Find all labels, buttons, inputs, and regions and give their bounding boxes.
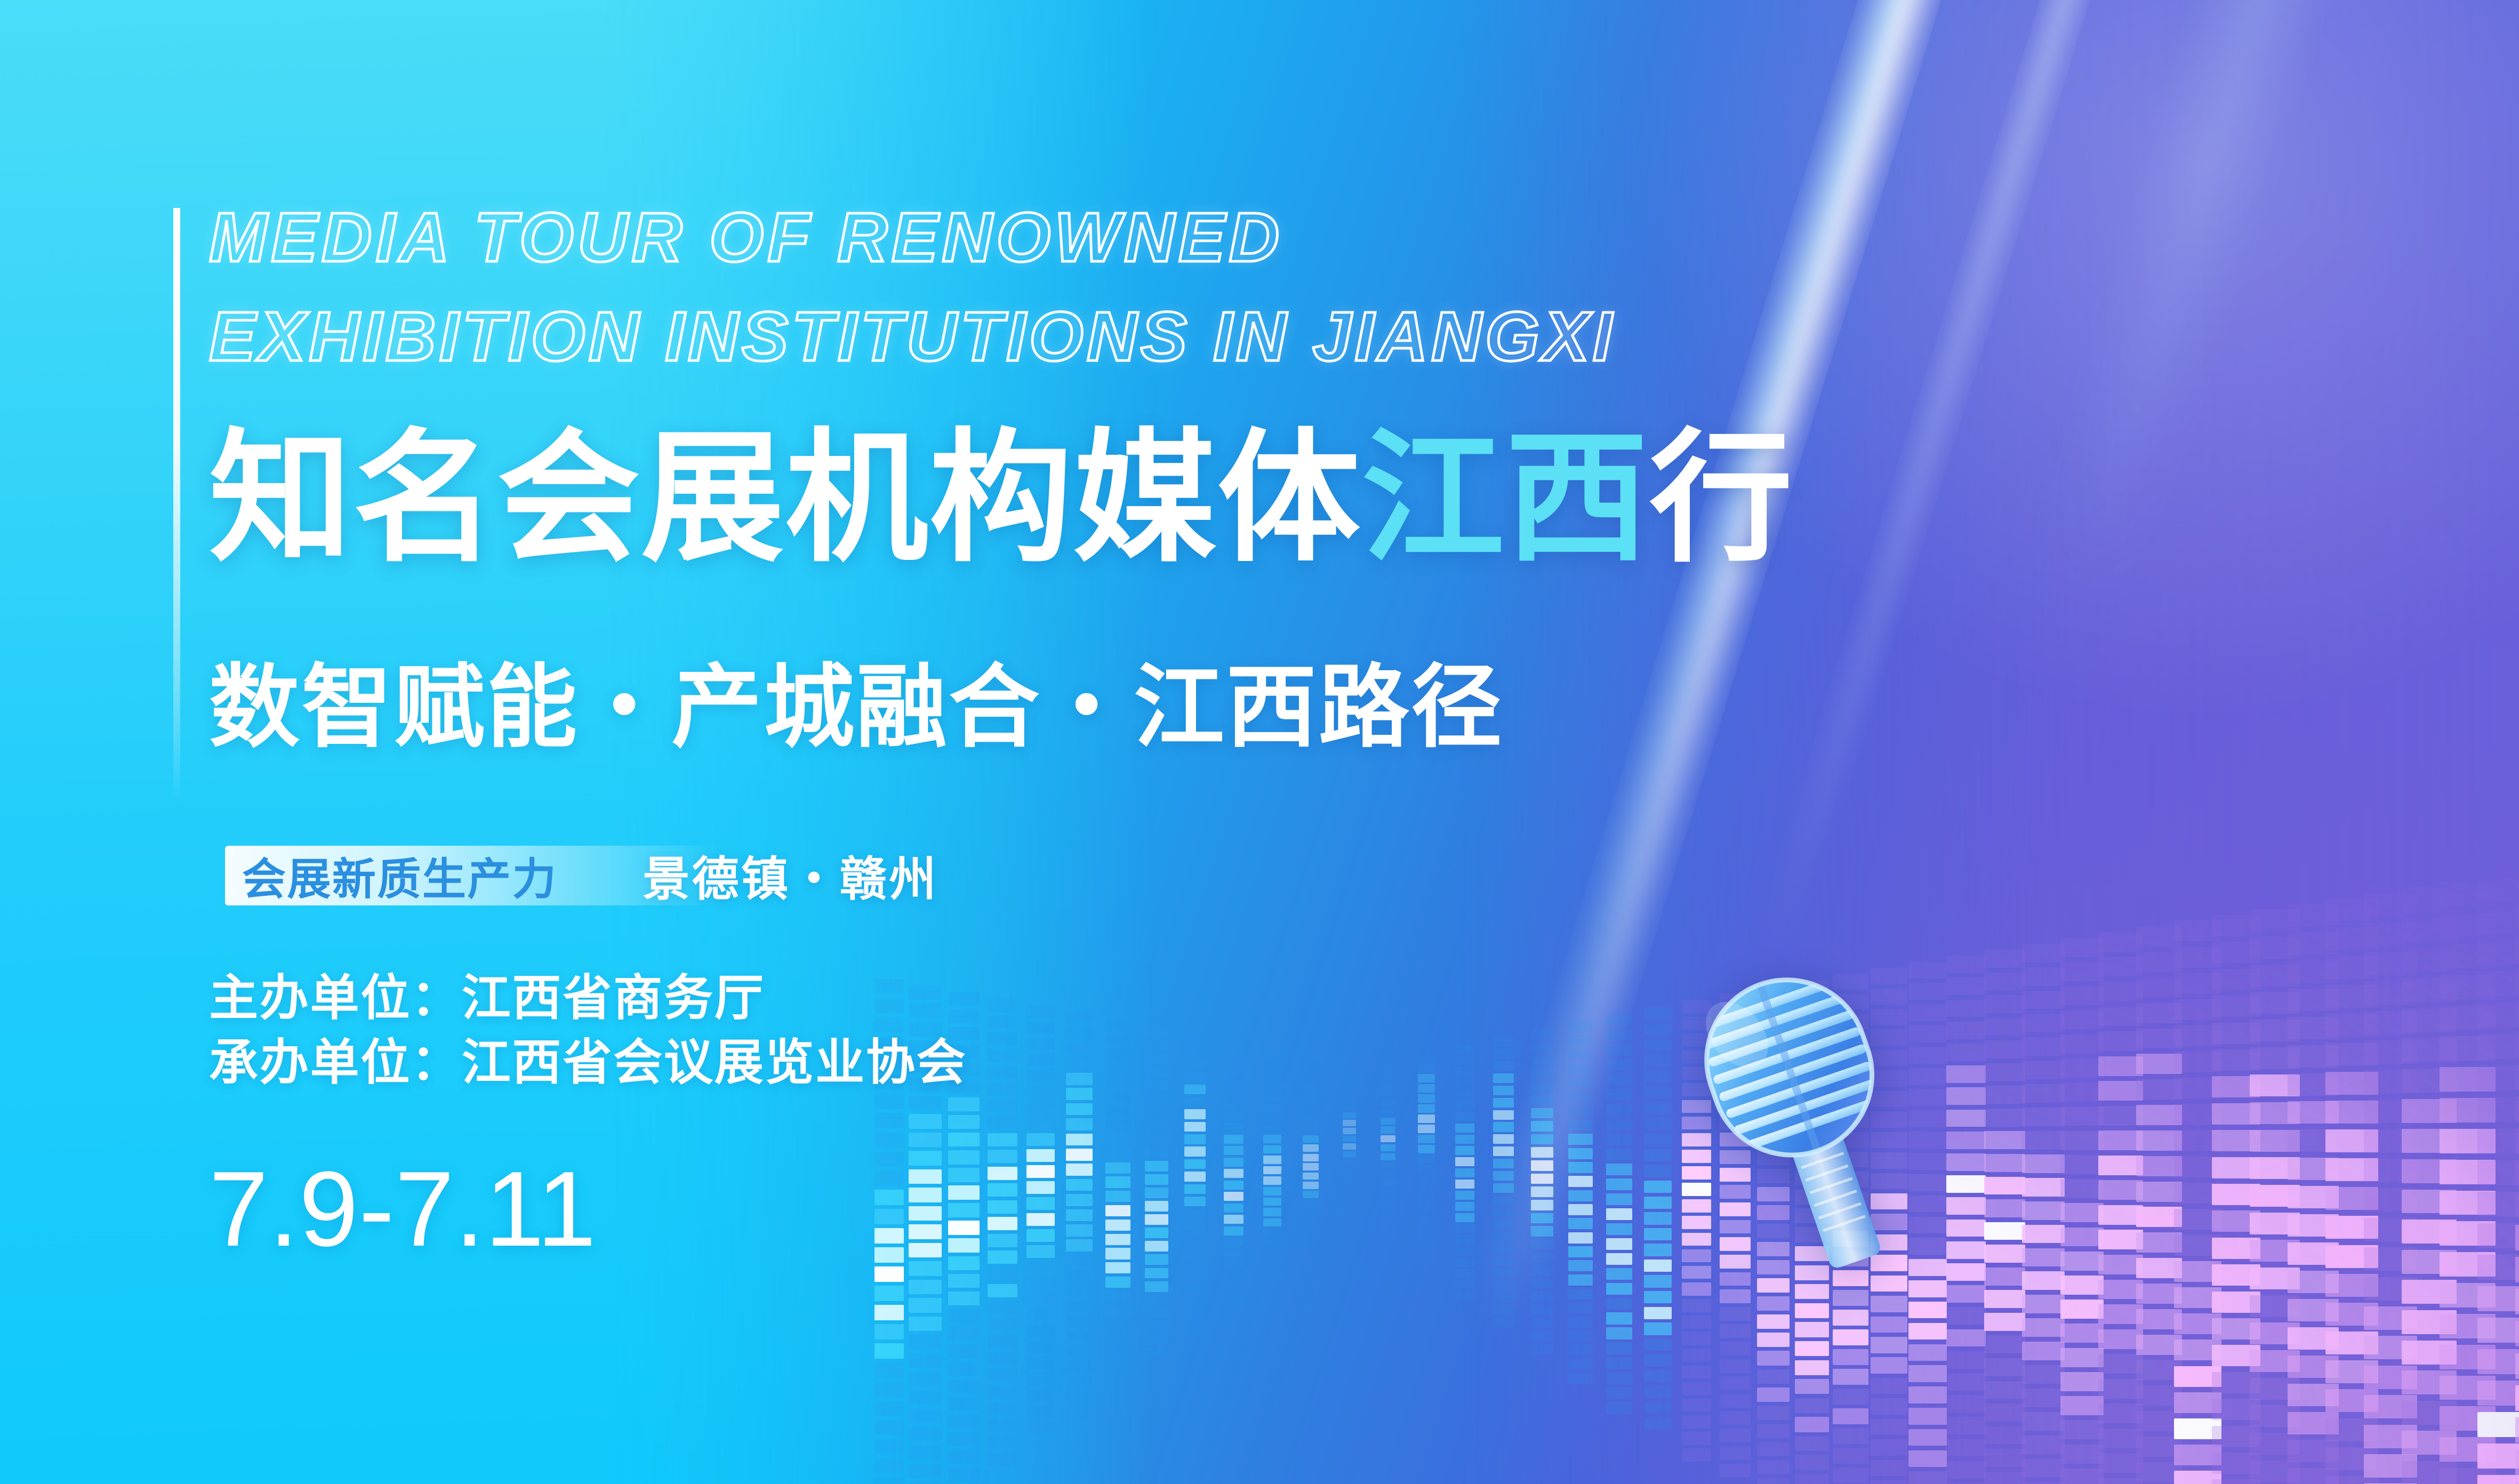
- equalizer-cell: [2212, 1157, 2260, 1178]
- equalizer-cell: [1184, 1296, 1206, 1306]
- equalizer-cell: [2250, 937, 2300, 959]
- equalizer-cell: [1381, 1109, 1395, 1116]
- equalizer-cell: [1145, 1027, 1168, 1038]
- equalizer-cell: [1682, 1117, 1711, 1130]
- equalizer-cell: [2212, 915, 2260, 936]
- equalizer-cell: [2515, 968, 2519, 993]
- equalizer-cell: [1644, 1054, 1672, 1066]
- equalizer-cell: [948, 1150, 980, 1164]
- equalizer-cell: [2288, 1355, 2339, 1378]
- equalizer-cell: [1224, 1169, 1244, 1178]
- equalizer-cell: [2136, 926, 2182, 946]
- equalizer-cell: [2022, 1061, 2064, 1079]
- equalizer-cell: [1606, 1402, 1632, 1414]
- equalizer-cell: [2022, 1108, 2064, 1126]
- equalizer-cell: [1682, 1448, 1711, 1462]
- equalizer-cell: [2174, 1078, 2221, 1098]
- equalizer-cell: [1145, 1094, 1168, 1104]
- equalizer-cell: [1343, 1112, 1355, 1119]
- equalizer-cell: [988, 1066, 1017, 1079]
- equalizer-cell: [2212, 1184, 2260, 1205]
- equalizer-cell: [1105, 1077, 1130, 1088]
- equalizer-cell: [2402, 1190, 2457, 1214]
- equalizer-cell: [2022, 991, 2064, 1009]
- equalizer-cell: [2174, 1339, 2221, 1360]
- equalizer-cell: [1568, 1064, 1593, 1075]
- equalizer-cell: [2477, 1160, 2519, 1185]
- equalizer-cell: [2364, 1306, 2418, 1330]
- equalizer-cell: [2250, 1074, 2300, 1096]
- equalizer-cell: [1184, 1085, 1206, 1095]
- equalizer-cell: [1606, 1059, 1632, 1071]
- equalizer-cell: [2402, 1038, 2457, 1062]
- equalizer-cell: [1381, 1153, 1395, 1160]
- equalizer-column: [2174, 920, 2221, 1484]
- equalizer-cell: [2060, 1445, 2104, 1464]
- equalizer-cell: [2212, 996, 2260, 1017]
- equalizer-cell: [1026, 1245, 1055, 1258]
- equalizer-cell: [1493, 1122, 1514, 1132]
- equalizer-cell: [1418, 1064, 1435, 1072]
- equalizer-cell: [1145, 1335, 1168, 1345]
- equalizer-cell: [1184, 1060, 1206, 1070]
- equalizer-cell: [1833, 1073, 1868, 1088]
- equalizer-cell: [875, 1458, 904, 1474]
- equalizer-cell: [1720, 1011, 1751, 1025]
- equalizer-cell: [1224, 1238, 1244, 1247]
- equalizer-cell: [1946, 956, 1986, 973]
- equalizer-cell: [2288, 1101, 2339, 1124]
- equalizer-cell: [1720, 1376, 1751, 1390]
- equalizer-cell: [1455, 1124, 1474, 1133]
- equalizer-cell: [2022, 1271, 2064, 1290]
- equalizer-cell: [988, 1435, 1017, 1449]
- equalizer-cell: [2250, 965, 2300, 986]
- equalizer-cell: [1418, 1104, 1435, 1112]
- equalizer-cell: [2136, 1437, 2182, 1457]
- equalizer-cell: [1184, 1209, 1206, 1219]
- equalizer-cell: [1606, 1074, 1632, 1086]
- equalizer-cell: [2364, 1159, 2418, 1182]
- equalizer-cell: [2022, 1318, 2064, 1337]
- equalizer-cell: [1224, 1043, 1244, 1052]
- equalizer-cell: [1606, 1134, 1632, 1145]
- equalizer-cell: [1795, 1208, 1828, 1223]
- equalizer-cell: [1066, 1270, 1093, 1282]
- equalizer-cell: [1606, 1357, 1632, 1369]
- equalizer-cell: [1184, 1097, 1206, 1107]
- equalizer-cell: [2022, 1131, 2064, 1150]
- equalizer-cell: [2136, 1232, 2182, 1253]
- equalizer-cell: [1066, 1194, 1093, 1206]
- equalizer-cell: [1682, 1050, 1711, 1063]
- equalizer-cell: [1263, 1218, 1281, 1227]
- equalizer-cell: [1984, 1381, 2025, 1399]
- equalizer-cell: [1908, 983, 1946, 1000]
- equalizer-cell: [2515, 1321, 2519, 1347]
- equalizer-cell: [875, 1305, 904, 1320]
- equalizer-column: [988, 999, 1017, 1474]
- equalizer-cell: [2212, 1479, 2260, 1484]
- equalizer-cell: [1224, 1077, 1244, 1086]
- equalizer-cell: [1568, 1302, 1593, 1313]
- equalizer-cell: [1224, 1123, 1244, 1132]
- organizing-body: 承办单位：江西省会议展览业协会: [209, 1031, 967, 1095]
- equalizer-cell: [2212, 1426, 2260, 1447]
- equalizer-cell: [1184, 1246, 1206, 1256]
- equalizer-cell: [2477, 940, 2519, 965]
- equalizer-cell: [1871, 1276, 1907, 1292]
- equalizer-cell: [875, 1362, 904, 1378]
- equalizer-cell: [1644, 1133, 1672, 1145]
- equalizer-cell: [1720, 1359, 1751, 1373]
- equalizer-cell: [2250, 1322, 2300, 1344]
- equalizer-cell: [2022, 1248, 2064, 1267]
- equalizer-cell: [2364, 982, 2418, 1005]
- equalizer-cell: [2060, 1106, 2104, 1126]
- equalizer-cell: [1224, 1135, 1244, 1144]
- equalizer-cell: [875, 1228, 904, 1244]
- equalizer-cell: [2250, 1047, 2300, 1069]
- equalizer-cell: [2060, 1058, 2104, 1078]
- equalizer-column: [1606, 1014, 1632, 1417]
- equalizer-cell: [1984, 1063, 2025, 1081]
- equalizer-cell: [1606, 1178, 1632, 1190]
- equalizer-cell: [2477, 1192, 2519, 1217]
- equalizer-cell: [1908, 1025, 1946, 1042]
- equalizer-cell: [2288, 1129, 2339, 1152]
- english-headline: MEDIA TOUR OF RENOWNED EXHIBITION INSTIT…: [209, 188, 1809, 386]
- equalizer-cell: [2477, 1381, 2519, 1406]
- equalizer-cell: [2098, 1130, 2143, 1150]
- equalizer-cell: [1381, 1135, 1395, 1142]
- equalizer-cell: [1568, 1162, 1593, 1173]
- equalizer-cell: [2098, 957, 2143, 976]
- equalizer-cell: [1757, 1460, 1790, 1474]
- equalizer-cell: [1757, 1351, 1790, 1365]
- equalizer-cell: [1224, 1284, 1244, 1293]
- equalizer-cell: [909, 1133, 941, 1147]
- equalizer-cell: [1720, 1272, 1751, 1286]
- equalizer-cell: [1833, 1310, 1868, 1325]
- equalizer-cell: [1606, 1312, 1632, 1324]
- equalizer-cell: [1984, 1018, 2025, 1036]
- equalizer-cell: [1757, 1078, 1790, 1093]
- equalizer-cell: [1833, 1053, 1868, 1069]
- equalizer-cell: [1263, 1125, 1281, 1133]
- english-headline-line1: MEDIA TOUR OF RENOWNED: [209, 188, 1809, 287]
- equalizer-cell: [1224, 1192, 1244, 1201]
- event-date: 7.9-7.11: [209, 1156, 597, 1263]
- equalizer-cell: [875, 1382, 904, 1397]
- equalizer-cell: [948, 1467, 980, 1481]
- equalizer-cell: [1224, 1215, 1244, 1224]
- equalizer-cell: [1184, 1309, 1206, 1319]
- equalizer-cell: [1418, 1236, 1435, 1244]
- equalizer-cell: [1263, 1208, 1281, 1216]
- equalizer-cell: [1455, 1090, 1474, 1099]
- equalizer-column: [2515, 871, 2519, 1484]
- equalizer-cell: [1757, 1442, 1790, 1456]
- equalizer-cell: [2250, 1213, 2300, 1234]
- equalizer-cell: [1568, 1344, 1593, 1355]
- equalizer-cell: [1145, 1080, 1168, 1091]
- equalizer-cell: [875, 1420, 904, 1435]
- equalizer-cell: [1184, 1109, 1206, 1119]
- equalizer-cell: [2060, 1396, 2104, 1415]
- equalizer-cell: [2022, 1435, 2064, 1454]
- equalizer-cell: [1644, 1354, 1672, 1366]
- equalizer-cell: [909, 1280, 941, 1294]
- equalizer-cell: [2098, 932, 2143, 952]
- equalizer-cell: [1984, 1109, 2025, 1127]
- equalizer-cell: [1682, 1349, 1711, 1362]
- equalizer-cell: [1303, 1200, 1318, 1208]
- equalizer-cell: [1682, 1216, 1711, 1229]
- equalizer-cell: [909, 1409, 941, 1423]
- equalizer-cell: [2212, 1318, 2260, 1339]
- equalizer-cell: [1720, 1429, 1751, 1442]
- equalizer-cell: [2136, 1054, 2182, 1074]
- equalizer-cell: [1105, 1262, 1130, 1273]
- equalizer-cell: [1531, 1239, 1554, 1250]
- equalizer-cell: [1066, 1179, 1093, 1191]
- equalizer-cell: [2325, 1447, 2378, 1470]
- equalizer-cell: [1871, 1173, 1907, 1190]
- equalizer-cell: [1644, 1385, 1672, 1398]
- equalizer-cell: [1833, 994, 1868, 1009]
- equalizer-cell: [1757, 1041, 1790, 1056]
- equalizer-cell: [2477, 1349, 2519, 1374]
- equalizer-cell: [2098, 1379, 2143, 1399]
- equalizer-cell: [1531, 1055, 1554, 1066]
- equalizer-cell: [1531, 1344, 1554, 1355]
- equalizer-cell: [2250, 1461, 2300, 1482]
- equalizer-cell: [2136, 1182, 2182, 1202]
- host-organization: 主办单位：江西省商务厅: [209, 966, 967, 1031]
- equalizer-cell: [1263, 1249, 1281, 1258]
- equalizer-cell: [1795, 1227, 1828, 1242]
- equalizer-cell: [2325, 1158, 2378, 1181]
- equalizer-cell: [948, 1185, 980, 1199]
- equalizer-cell: [2060, 1082, 2104, 1102]
- equalizer-cell: [2364, 1366, 2418, 1389]
- equalizer-cell: [1871, 1296, 1907, 1312]
- equalizer-cell: [1644, 1275, 1672, 1287]
- equalizer-cell: [1795, 981, 1828, 996]
- equalizer-cell: [1720, 1289, 1751, 1303]
- equalizer-cell: [1381, 1162, 1395, 1169]
- equalizer-cell: [2515, 1289, 2519, 1314]
- equalizer-cell: [1833, 1211, 1868, 1226]
- equalizer-cell: [1066, 1118, 1093, 1130]
- equalizer-cell: [2060, 1131, 2104, 1150]
- equalizer-cell: [909, 1427, 941, 1441]
- equalizer-cell: [2364, 952, 2418, 975]
- equalizer-cell: [1682, 1083, 1711, 1096]
- equalizer-cell: [2288, 1384, 2339, 1406]
- equalizer-cell: [2022, 1178, 2064, 1197]
- equalizer-cell: [1757, 1133, 1790, 1147]
- equalizer-cell: [1720, 1220, 1751, 1234]
- equalizer-cell: [1871, 1460, 1907, 1477]
- equalizer-cell: [948, 1327, 980, 1341]
- equalizer-cell: [2212, 1264, 2260, 1286]
- equalizer-cell: [988, 1368, 1017, 1382]
- equalizer-cell: [1381, 1126, 1395, 1133]
- equalizer-cell: [1568, 1134, 1593, 1145]
- equalizer-cell: [1568, 1036, 1593, 1047]
- equalizer-cell: [1066, 1028, 1093, 1040]
- equalizer-column: [2136, 926, 2182, 1484]
- equalizer-cell: [2515, 1257, 2519, 1282]
- equalizer-cell: [1871, 1111, 1907, 1128]
- equalizer-cell: [1418, 1135, 1435, 1143]
- equalizer-cell: [1455, 1168, 1474, 1177]
- equalizer-cell: [1606, 1253, 1632, 1265]
- equalizer-cell: [1026, 1037, 1055, 1050]
- equalizer-cell: [2136, 1029, 2182, 1049]
- equalizer-cell: [1026, 1053, 1055, 1066]
- equalizer-cell: [1644, 1181, 1672, 1193]
- equalizer-cell: [1568, 1190, 1593, 1201]
- equalizer-cell: [1145, 1241, 1168, 1252]
- equalizer-cell: [1066, 1149, 1093, 1161]
- equalizer-cell: [1946, 1373, 1986, 1391]
- equalizer-cell: [1184, 1146, 1206, 1157]
- equalizer-cell: [1493, 1244, 1514, 1254]
- equalizer-cell: [1871, 1091, 1907, 1108]
- equalizer-cell: [1946, 1417, 1986, 1434]
- equalizer-cell: [1644, 1165, 1672, 1177]
- equalizer-cell: [1568, 1260, 1593, 1271]
- equalizer-cell: [1263, 1156, 1281, 1164]
- equalizer-cell: [1105, 1376, 1130, 1387]
- equalizer-cell: [1795, 1436, 1828, 1451]
- equalizer-cell: [1145, 1161, 1168, 1172]
- equalizer-cell: [1720, 1307, 1751, 1321]
- equalizer-cell: [1381, 1171, 1395, 1178]
- equalizer-cell: [1682, 1299, 1711, 1312]
- equalizer-cell: [1418, 1084, 1435, 1092]
- equalizer-cell: [2212, 1238, 2260, 1259]
- equalizer-cell: [1343, 1183, 1355, 1189]
- equalizer-cell: [1757, 1096, 1790, 1111]
- equalizer-cell: [1720, 1342, 1751, 1355]
- equalizer-cell: [1026, 1325, 1055, 1338]
- equalizer-cell: [2440, 1376, 2496, 1400]
- equalizer-cell: [1568, 1288, 1593, 1299]
- equalizer-cell: [1493, 1232, 1514, 1241]
- equalizer-cell: [1455, 1191, 1474, 1200]
- equalizer-cell: [1871, 1337, 1907, 1353]
- equalizer-cell: [2098, 1329, 2143, 1349]
- equalizer-cell: [1682, 1315, 1711, 1329]
- equalizer-cell: [1026, 1005, 1055, 1018]
- equalizer-cell: [2325, 927, 2378, 950]
- equalizer-cell: [1871, 1317, 1907, 1333]
- equalizer-cell: [1682, 1000, 1711, 1014]
- equalizer-cell: [1145, 1188, 1168, 1198]
- equalizer-cell: [1795, 1398, 1828, 1413]
- equalizer-cell: [909, 1206, 941, 1221]
- equalizer-cell: [2136, 1105, 2182, 1125]
- equalizer-cell: [1833, 1112, 1868, 1128]
- equalizer-cell: [2136, 1130, 2182, 1151]
- equalizer-cell: [1568, 1120, 1593, 1131]
- equalizer-cell: [948, 1115, 980, 1129]
- equalizer-column: [1795, 981, 1828, 1484]
- equalizer-cell: [1984, 950, 2025, 968]
- equalizer-cell: [2174, 1104, 2221, 1125]
- equalizer-cell: [1720, 1133, 1751, 1146]
- equalizer-cell: [1531, 1265, 1554, 1276]
- equalizer-cell: [1757, 1387, 1790, 1402]
- equalizer-cell: [1757, 1187, 1790, 1201]
- equalizer-cell: [2212, 969, 2260, 990]
- equalizer-cell: [1418, 1226, 1435, 1234]
- equalizer-cell: [1531, 1134, 1554, 1145]
- equalizer-cell: [948, 1415, 980, 1429]
- equalizer-grid: [875, 811, 2519, 1484]
- equalizer-cell: [2212, 1049, 2260, 1071]
- equalizer-cell: [1066, 1224, 1093, 1237]
- equalizer-cell: [2022, 1389, 2064, 1407]
- equalizer-cell: [2098, 1280, 2143, 1299]
- equalizer-cell: [1606, 1298, 1632, 1310]
- equalizer-cell: [2174, 1183, 2221, 1204]
- equalizer-cell: [1026, 1389, 1055, 1402]
- equalizer-cell: [2477, 1412, 2519, 1437]
- equalizer-cell: [2515, 1000, 2519, 1025]
- equalizer-cell: [909, 1169, 941, 1184]
- equalizer-cell: [1795, 1417, 1828, 1432]
- equalizer-cell: [1224, 1295, 1244, 1304]
- equalizer-cell: [1303, 1144, 1318, 1152]
- equalizer-cell: [1908, 1450, 1946, 1467]
- equalizer-cell: [1644, 1197, 1672, 1209]
- equalizer-cell: [1343, 1104, 1355, 1111]
- equalizer-cell: [1343, 1120, 1355, 1126]
- equalizer-cell: [1145, 1281, 1168, 1292]
- equalizer-cell: [2402, 1250, 2457, 1274]
- equalizer-cell: [2440, 1314, 2496, 1338]
- equalizer-cell: [1224, 1112, 1244, 1121]
- equalizer-cell: [948, 1256, 980, 1270]
- equalizer-cell: [1343, 1128, 1355, 1134]
- equalizer-cell: [1418, 1256, 1435, 1264]
- equalizer-cell: [1105, 1277, 1130, 1288]
- equalizer-cell: [1224, 1204, 1244, 1213]
- equalizer-cell: [1105, 1134, 1130, 1145]
- equalizer-cell: [2325, 1389, 2378, 1412]
- equalizer-cell: [2022, 1084, 2064, 1103]
- equalizer-cell: [1720, 1255, 1751, 1269]
- equalizer-column: [1720, 993, 1751, 1484]
- equalizer-cell: [1682, 1332, 1711, 1345]
- equalizer-cell: [1531, 1331, 1554, 1342]
- equalizer-cell: [1066, 1239, 1093, 1252]
- equalizer-cell: [1263, 1052, 1281, 1060]
- equalizer-cell: [1026, 1309, 1055, 1322]
- equalizer-cell: [1224, 1146, 1244, 1155]
- equalizer-cell: [1757, 1478, 1790, 1484]
- equalizer-cell: [1682, 1199, 1711, 1213]
- equalizer-cell: [2477, 1318, 2519, 1343]
- equalizer-cell: [1343, 1151, 1355, 1158]
- equalizer-cell: [1795, 999, 1828, 1014]
- equalizer-cell: [1381, 1118, 1395, 1125]
